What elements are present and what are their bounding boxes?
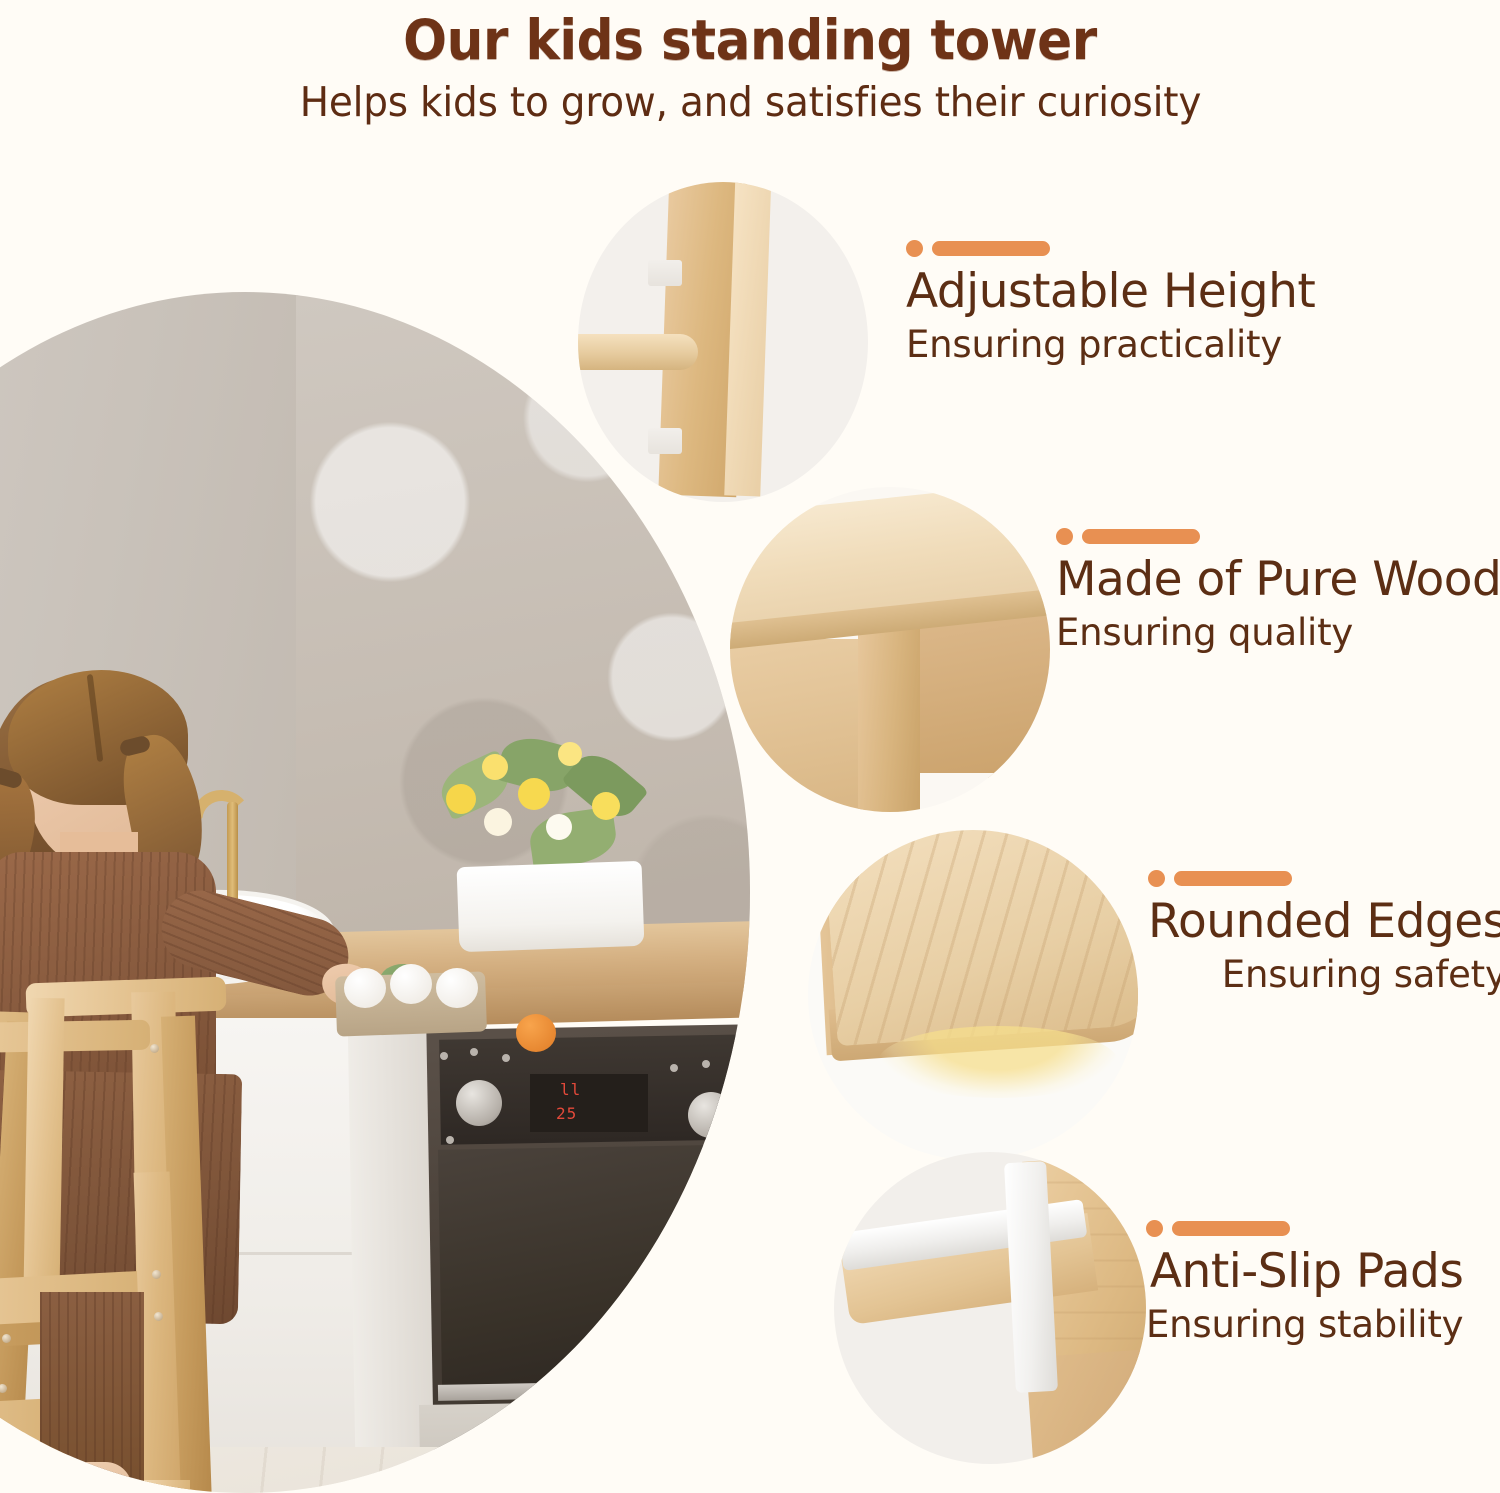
rounded-corner-highlight xyxy=(878,1026,1118,1098)
feature-subtitle: Ensuring quality xyxy=(1056,609,1500,657)
page-subtitle: Helps kids to grow, and satisfies their … xyxy=(299,76,1200,128)
orange-fruit xyxy=(516,1014,556,1052)
child-leg xyxy=(40,1292,144,1482)
wood-back-panel xyxy=(916,613,1050,778)
oven-display xyxy=(530,1074,648,1132)
oven-indicator xyxy=(702,1060,710,1068)
accent-marker xyxy=(1148,870,1500,887)
feature-image-anti-slip-pads xyxy=(834,1152,1146,1464)
screw xyxy=(154,1312,163,1321)
oven-door-glass xyxy=(438,1144,750,1390)
feature-title: Anti-Slip Pads xyxy=(1146,1243,1463,1301)
accent-marker xyxy=(1056,528,1500,545)
oven-knob xyxy=(456,1080,502,1126)
page-header: Our kids standing tower Helps kids to gr… xyxy=(0,0,1500,140)
tower-side-rail xyxy=(23,998,64,1299)
flower xyxy=(546,814,572,840)
child-foot xyxy=(36,1462,132,1493)
oven-indicator xyxy=(446,1136,454,1144)
flower xyxy=(446,784,476,814)
accent-dot-icon xyxy=(1148,870,1165,887)
accent-bar-icon xyxy=(1172,1221,1290,1236)
flower xyxy=(592,792,620,820)
accent-bar-icon xyxy=(932,241,1050,256)
tower-foot xyxy=(144,1480,190,1493)
flower xyxy=(558,742,582,766)
oven-indicator xyxy=(502,1054,510,1062)
egg xyxy=(344,968,386,1008)
feature-title: Adjustable Height xyxy=(906,263,1315,321)
wood-leg xyxy=(858,615,920,812)
feature-title: Rounded Edges xyxy=(1148,893,1500,951)
hero-photo: ll 25 xyxy=(0,292,750,1493)
feature-title: Made of Pure Wood xyxy=(1056,551,1500,609)
oven-indicator xyxy=(440,1052,448,1060)
oven-display-digits: 25 xyxy=(556,1104,577,1123)
notch-slot-3 xyxy=(648,260,682,286)
wood-lower-shelf xyxy=(730,639,866,812)
screw xyxy=(150,1044,159,1053)
feature-image-made-of-pure-wood xyxy=(730,487,1050,812)
oven-indicator xyxy=(470,1048,478,1056)
feature-image-rounded-edges xyxy=(808,830,1138,1160)
oven-knob xyxy=(688,1092,734,1138)
flower xyxy=(482,754,508,780)
board-top-rounded xyxy=(823,830,1138,1046)
notch-slot-1 xyxy=(648,428,682,454)
page-title: Our kids standing tower xyxy=(403,8,1097,72)
accent-marker xyxy=(906,240,1315,257)
flower xyxy=(484,808,512,836)
oven-indicator xyxy=(670,1064,678,1072)
egg xyxy=(390,964,432,1004)
accent-marker xyxy=(1146,1220,1463,1237)
feature-subtitle: Ensuring safety xyxy=(1148,951,1500,999)
adjust-rail xyxy=(578,334,698,370)
accent-dot-icon xyxy=(1056,528,1073,545)
tower-safety-rail xyxy=(0,1020,150,1055)
kitchen-scene: ll 25 xyxy=(0,292,750,1493)
accent-bar-icon xyxy=(1082,529,1200,544)
screw xyxy=(2,1334,11,1343)
feature-image-adjustable-height xyxy=(578,182,868,502)
accent-dot-icon xyxy=(906,240,923,257)
feature-subtitle: Ensuring stability xyxy=(1146,1301,1463,1349)
screw xyxy=(152,1270,161,1279)
feature-text-made-of-pure-wood: Made of Pure Wood Ensuring quality xyxy=(1056,528,1500,657)
feature-text-rounded-edges: Rounded Edges Ensuring safety xyxy=(1148,870,1500,999)
egg xyxy=(436,968,478,1008)
wood-gap xyxy=(916,773,1050,812)
accent-bar-icon xyxy=(1174,871,1292,886)
oven-display-digits: ll xyxy=(560,1080,581,1099)
accent-dot-icon xyxy=(1146,1220,1163,1237)
flower xyxy=(518,778,550,810)
feature-text-adjustable-height: Adjustable Height Ensuring practicality xyxy=(906,240,1315,369)
flower-pot xyxy=(457,861,645,952)
feature-subtitle: Ensuring practicality xyxy=(906,321,1315,369)
feature-text-anti-slip-pads: Anti-Slip Pads Ensuring stability xyxy=(1146,1220,1463,1349)
